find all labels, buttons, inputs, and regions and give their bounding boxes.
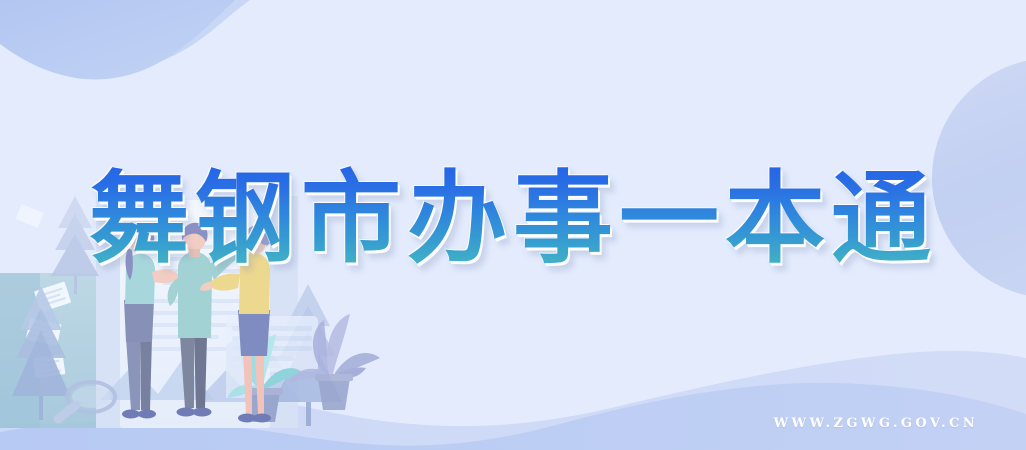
wave-bottom-back xyxy=(0,351,1026,450)
magnifier-icon xyxy=(58,382,115,419)
site-banner: 舞钢市办事一本通 WWW.ZGWG.GOV.CN xyxy=(0,0,1026,450)
wave-top-left xyxy=(0,0,250,70)
potted-plant-teal xyxy=(228,334,302,422)
checklist-item xyxy=(129,322,149,339)
checklist-item xyxy=(129,298,149,315)
pine-tree xyxy=(274,284,342,426)
pine-tree xyxy=(12,286,70,420)
banner-title-wrap: 舞钢市办事一本通 xyxy=(0,163,1026,275)
site-url: WWW.ZGWG.GOV.CN xyxy=(774,416,978,431)
pine-tree xyxy=(230,288,282,384)
mountain-range-2 xyxy=(196,370,302,402)
window-blinds xyxy=(226,316,318,372)
banner-title: 舞钢市办事一本通 xyxy=(89,163,937,275)
desk-shape xyxy=(226,337,264,398)
checklist xyxy=(129,274,149,339)
potted-plant-purple xyxy=(290,314,380,410)
wall-panel-shade xyxy=(0,273,40,428)
wall-panel-left xyxy=(0,273,108,428)
wave-top-left-main xyxy=(0,0,235,79)
mountain-range xyxy=(100,360,214,400)
